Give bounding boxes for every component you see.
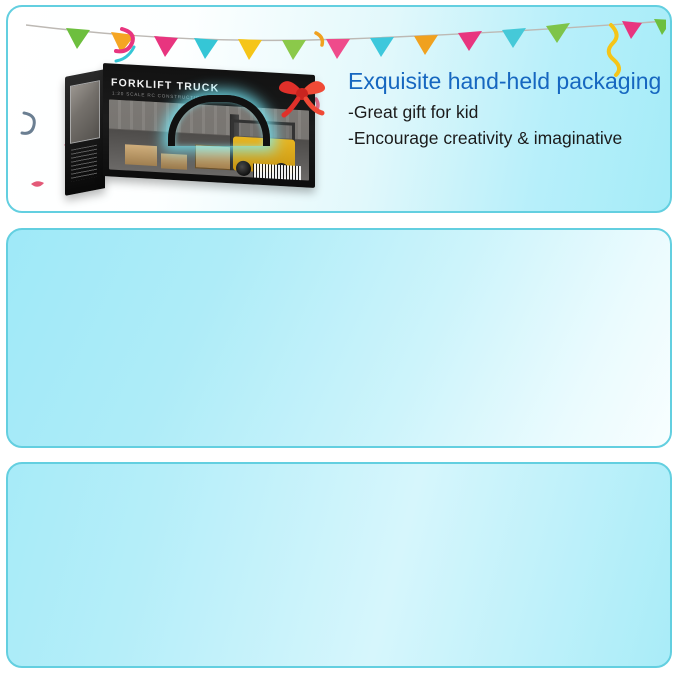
carried-pallet bbox=[195, 144, 231, 170]
product-box-image: FORKLIFT TRUCK 1:20 SCALE RC CONSTRUCTIO… bbox=[65, 69, 315, 194]
pallet-stack bbox=[125, 144, 157, 166]
infographic-page: FORKLIFT TRUCK 1:20 SCALE RC CONSTRUCTIO… bbox=[0, 0, 679, 673]
box-side-text bbox=[71, 145, 97, 182]
panel-remote-controller: 2.4 Ghz Remote Controller -2 x AA Batter… bbox=[6, 228, 672, 448]
confetti-piece-icon bbox=[308, 27, 338, 67]
barcode-icon bbox=[253, 163, 301, 180]
confetti-piece-icon bbox=[28, 175, 50, 193]
packaging-text-block: Exquisite hand-held packaging -Great gif… bbox=[348, 67, 661, 151]
box-side-panel bbox=[65, 69, 105, 196]
box-side-photo bbox=[70, 80, 100, 144]
page-title-packaging: Exquisite hand-held packaging bbox=[348, 67, 661, 95]
pallet-stack bbox=[161, 153, 187, 169]
forklift-wheel bbox=[236, 161, 251, 177]
gift-bow-icon bbox=[273, 75, 331, 123]
packaging-bullet-2: -Encourage creativity & imaginative bbox=[348, 125, 661, 151]
panel-packaging: FORKLIFT TRUCK 1:20 SCALE RC CONSTRUCTIO… bbox=[6, 5, 672, 213]
panel-playtime: x2 Upgrade Longer Pl bbox=[6, 462, 672, 668]
packaging-bullet-1: -Great gift for kid bbox=[348, 99, 661, 125]
